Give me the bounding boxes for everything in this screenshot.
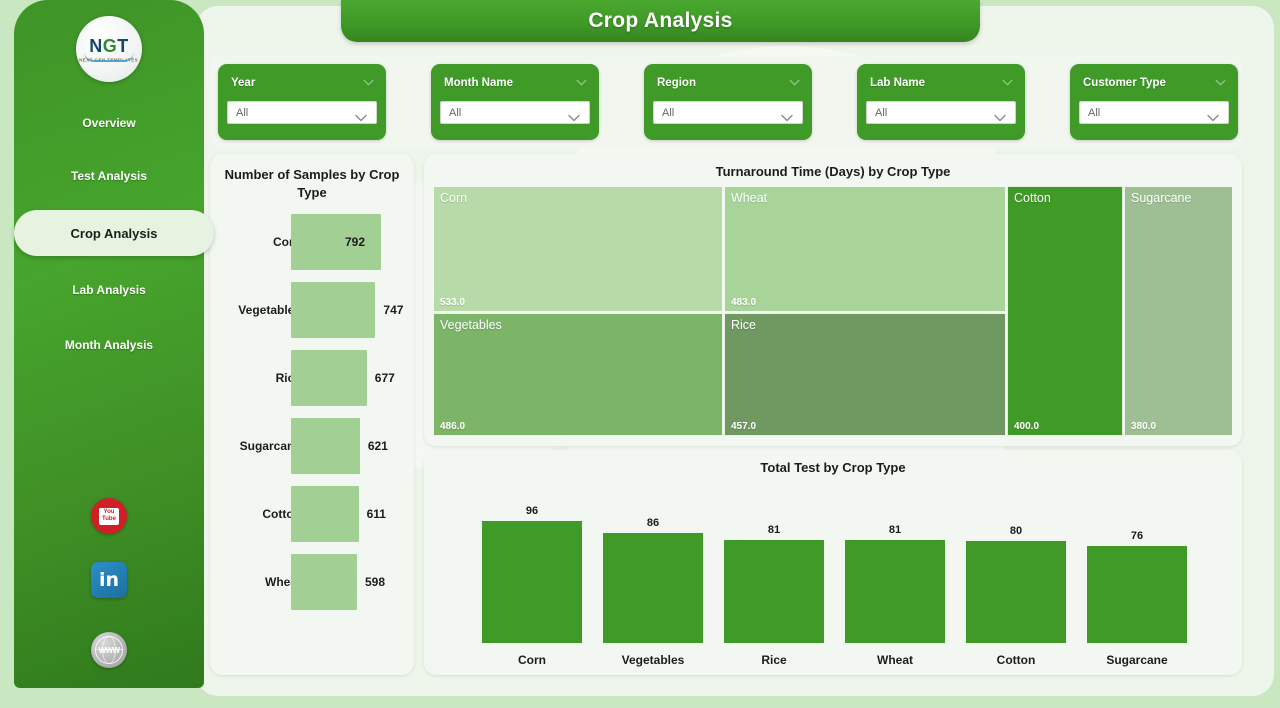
column-category-label: Rice — [714, 653, 834, 667]
treemap-tile-label: Sugarcane — [1131, 191, 1191, 205]
column-category-label: Vegetables — [593, 653, 713, 667]
bar-segment[interactable] — [291, 350, 367, 406]
filter-dropdown[interactable]: All — [866, 101, 1016, 124]
filter-label: Year — [231, 77, 255, 89]
sidebar-item-label: Test Analysis — [71, 169, 147, 183]
sidebar-item-label: Month Analysis — [65, 338, 153, 352]
filter-dropdown[interactable]: All — [440, 101, 590, 124]
filter-lab-name[interactable]: Lab NameAll — [857, 64, 1025, 140]
globe-equator — [95, 649, 123, 650]
filter-label: Region — [657, 77, 696, 89]
filter-selected-value: All — [236, 107, 248, 119]
bar-segment[interactable] — [291, 554, 357, 610]
bar-row[interactable]: Sugarcane621 — [210, 416, 414, 476]
turnaround-time-panel: Turnaround Time (Days) by Crop Type Corn… — [424, 154, 1242, 446]
filter-dropdown[interactable]: All — [227, 101, 377, 124]
column-group[interactable]: 80Cotton — [956, 480, 1076, 675]
chevron-down-icon[interactable] — [781, 109, 793, 117]
column-bar[interactable] — [724, 540, 824, 643]
filter-bar: YearAllMonth NameAllRegionAllLab NameAll… — [210, 56, 1242, 148]
treemap-tile[interactable]: Wheat483.0 — [724, 186, 1006, 312]
column-value-label: 86 — [647, 517, 659, 529]
chevron-down-icon[interactable] — [1207, 109, 1219, 117]
column-group[interactable]: 81Wheat — [835, 480, 955, 675]
filter-dropdown[interactable]: All — [1079, 101, 1229, 124]
filter-year[interactable]: YearAll — [218, 64, 386, 140]
sidebar-item-label: Crop Analysis — [71, 226, 158, 241]
treemap-tile-value: 533.0 — [440, 297, 465, 308]
column-category-label: Sugarcane — [1077, 653, 1197, 667]
column-group[interactable]: 81Rice — [714, 480, 834, 675]
column-bar[interactable] — [1087, 546, 1187, 643]
column-bar[interactable] — [603, 533, 703, 643]
column-category-label: Cotton — [956, 653, 1076, 667]
treemap-tile-value: 483.0 — [731, 297, 756, 308]
sidebar-item-lab-analysis[interactable]: Lab Analysis — [14, 277, 204, 303]
treemap-tile-value: 380.0 — [1131, 421, 1156, 432]
sidebar-item-test-analysis[interactable]: Test Analysis — [14, 163, 204, 189]
column-value-label: 81 — [889, 524, 901, 536]
column-category-label: Wheat — [835, 653, 955, 667]
bar-row[interactable]: Rice677 — [210, 348, 414, 408]
page-title-banner: Crop Analysis — [341, 0, 980, 42]
bar-row[interactable]: Cotton611 — [210, 484, 414, 544]
bar-value-label: 792 — [345, 235, 365, 249]
logo-swoosh-icon — [84, 52, 134, 62]
filter-dropdown[interactable]: All — [653, 101, 803, 124]
sidebar-item-label: Lab Analysis — [72, 283, 146, 297]
column-value-label: 96 — [526, 505, 538, 517]
bar-row[interactable]: Vegetables747 — [210, 280, 414, 340]
column-group[interactable]: 76Sugarcane — [1077, 480, 1197, 675]
filter-label: Lab Name — [870, 77, 925, 89]
treemap-tile-label: Corn — [440, 191, 467, 205]
treemap-tile-value: 400.0 — [1014, 421, 1039, 432]
dashboard-page: NGT NEXT GEN TEMPLATES YouTube in WWW Ov… — [0, 0, 1280, 708]
sidebar-item-label: Overview — [82, 116, 135, 130]
treemap-tile-label: Wheat — [731, 191, 767, 205]
sidebar: NGT NEXT GEN TEMPLATES YouTube in WWW Ov… — [14, 0, 204, 688]
column-value-label: 76 — [1131, 530, 1143, 542]
sidebar-item-overview[interactable]: Overview — [14, 110, 204, 136]
filter-selected-value: All — [449, 107, 461, 119]
bar-segment[interactable] — [291, 282, 375, 338]
bar-value-label: 611 — [367, 507, 386, 521]
total-test-column-chart: 96Corn86Vegetables81Rice81Wheat80Cotton7… — [424, 480, 1242, 675]
treemap-tile[interactable]: Corn533.0 — [433, 186, 723, 312]
column-bar[interactable] — [966, 541, 1066, 643]
chevron-down-icon[interactable] — [568, 109, 580, 117]
bar-row[interactable]: Corn792 — [210, 212, 414, 272]
filter-region[interactable]: RegionAll — [644, 64, 812, 140]
bar-segment[interactable] — [291, 486, 359, 542]
column-value-label: 81 — [768, 524, 780, 536]
treemap-tile[interactable]: Cotton400.0 — [1007, 186, 1123, 436]
chevron-down-icon[interactable] — [789, 79, 800, 86]
treemap-tile-value: 486.0 — [440, 421, 465, 432]
treemap-tile-label: Cotton — [1014, 191, 1051, 205]
filter-selected-value: All — [1088, 107, 1100, 119]
turnaround-treemap: Corn533.0Wheat483.0Vegetables486.0Rice45… — [433, 186, 1233, 436]
bar-segment[interactable] — [291, 418, 360, 474]
treemap-tile-label: Vegetables — [440, 318, 502, 332]
treemap-tile[interactable]: Vegetables486.0 — [433, 313, 723, 436]
linkedin-icon-label: in — [99, 571, 119, 590]
treemap-tile[interactable]: Rice457.0 — [724, 313, 1006, 436]
bar-value-label: 598 — [365, 575, 385, 589]
sidebar-item-crop-analysis[interactable]: Crop Analysis — [14, 210, 214, 256]
filter-selected-value: All — [875, 107, 887, 119]
filter-label: Customer Type — [1083, 77, 1166, 89]
column-bar[interactable] — [482, 521, 582, 643]
bar-segment[interactable] — [291, 214, 381, 270]
treemap-tile-value: 457.0 — [731, 421, 756, 432]
chevron-down-icon[interactable] — [355, 109, 367, 117]
filter-selected-value: All — [662, 107, 674, 119]
sidebar-item-month-analysis[interactable]: Month Analysis — [14, 332, 204, 358]
chevron-down-icon[interactable] — [1215, 79, 1226, 86]
samples-chart-title: Number of Samples by Crop Type — [210, 166, 414, 202]
chevron-down-icon[interactable] — [994, 109, 1006, 117]
ngt-logo: NGT NEXT GEN TEMPLATES — [76, 16, 142, 82]
column-bar[interactable] — [845, 540, 945, 643]
bar-value-label: 621 — [368, 439, 388, 453]
youtube-icon[interactable]: YouTube — [91, 498, 127, 534]
website-globe-icon[interactable]: WWW — [91, 632, 127, 668]
linkedin-icon[interactable]: in — [91, 562, 127, 598]
youtube-icon-label: YouTube — [99, 508, 119, 525]
chevron-down-icon[interactable] — [1002, 79, 1013, 86]
column-group[interactable]: 86Vegetables — [593, 480, 713, 675]
bar-value-label: 747 — [383, 303, 403, 317]
total-test-chart-title: Total Test by Crop Type — [424, 460, 1242, 475]
globe-ring-inner — [102, 636, 116, 664]
chevron-down-icon[interactable] — [363, 79, 374, 86]
chevron-down-icon[interactable] — [576, 79, 587, 86]
column-group[interactable]: 96Corn — [472, 480, 592, 675]
treemap-tile[interactable]: Sugarcane380.0 — [1124, 186, 1233, 436]
filter-customer-type[interactable]: Customer TypeAll — [1070, 64, 1238, 140]
filter-month-name[interactable]: Month NameAll — [431, 64, 599, 140]
page-title: Crop Analysis — [588, 9, 732, 33]
bar-value-label: 677 — [375, 371, 395, 385]
samples-by-crop-panel: Number of Samples by Crop Type Corn792Ve… — [210, 154, 414, 675]
column-category-label: Corn — [472, 653, 592, 667]
total-test-panel: Total Test by Crop Type 96Corn86Vegetabl… — [424, 450, 1242, 675]
bar-row[interactable]: Wheat598 — [210, 552, 414, 612]
treemap-chart-title: Turnaround Time (Days) by Crop Type — [424, 164, 1242, 179]
treemap-tile-label: Rice — [731, 318, 756, 332]
filter-label: Month Name — [444, 77, 513, 89]
column-value-label: 80 — [1010, 525, 1022, 537]
